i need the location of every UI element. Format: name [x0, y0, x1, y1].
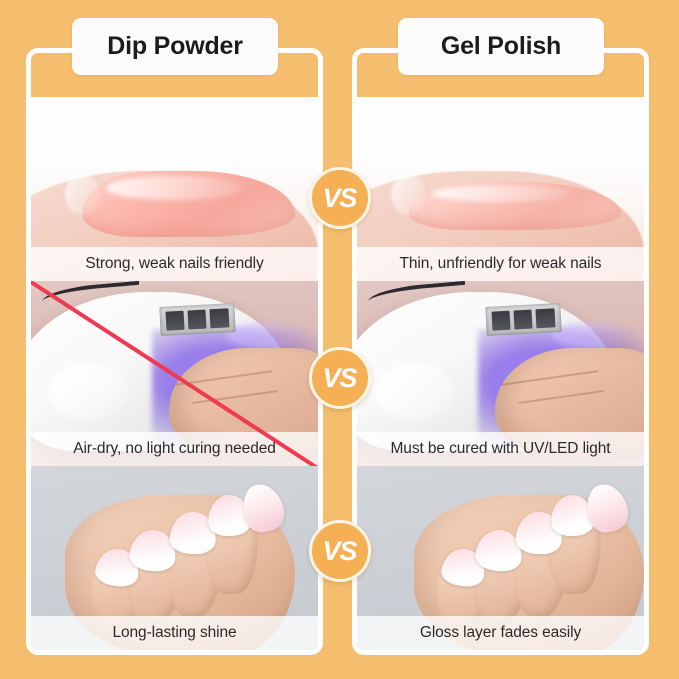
column-title-chip-left: Dip Powder	[72, 18, 278, 75]
caption-bar: Must be cured with UV/LED light	[357, 432, 644, 466]
caption-text: Long-lasting shine	[112, 624, 236, 642]
caption-bar: Thin, unfriendly for weak nails	[357, 247, 644, 281]
caption-bar: Long-lasting shine	[31, 616, 318, 650]
column-title-left: Dip Powder	[107, 32, 243, 61]
panel-inner-right: Thin, unfriendly for weak nails	[357, 97, 644, 650]
panel-inner-left: Strong, weak nails friendly	[31, 97, 318, 650]
lamp-dome-highlight	[48, 364, 128, 419]
column-title-chip-right: Gel Polish	[398, 18, 604, 75]
display-digit	[514, 310, 533, 330]
lamp-digital-display	[159, 303, 235, 336]
caption-text: Thin, unfriendly for weak nails	[400, 255, 602, 273]
lamp-dome-highlight	[374, 364, 454, 419]
vs-divider-column: VS VS VS	[327, 48, 352, 655]
comparison-infographic: Dip Powder Gel Polish Strong, weak nai	[0, 0, 679, 679]
vs-badge-row-3: VS	[309, 520, 371, 582]
caption-text: Strong, weak nails friendly	[85, 255, 263, 273]
caption-text: Must be cured with UV/LED light	[390, 440, 610, 458]
vs-label: VS	[322, 365, 356, 392]
caption-bar: Strong, weak nails friendly	[31, 247, 318, 281]
display-digit	[166, 311, 185, 331]
cell-right-curing-method: Must be cured with UV/LED light	[357, 281, 644, 465]
lamp-rim-light	[552, 322, 638, 348]
vs-label: VS	[322, 538, 356, 565]
caption-bar: Air-dry, no light curing needed	[31, 432, 318, 466]
vs-label: VS	[322, 185, 356, 212]
panel-dip-powder: Strong, weak nails friendly	[26, 48, 323, 655]
cell-left-nail-strength: Strong, weak nails friendly	[31, 97, 318, 281]
lamp-rim-light	[226, 322, 312, 348]
cuticle-highlight	[65, 174, 99, 215]
panel-gel-polish: Thin, unfriendly for weak nails	[352, 48, 649, 655]
display-digit	[210, 309, 229, 329]
cell-left-shine-durability: Long-lasting shine	[31, 466, 318, 650]
caption-text: Air-dry, no light curing needed	[73, 440, 276, 458]
display-digit	[492, 311, 511, 331]
lamp-digital-display	[485, 303, 561, 336]
cell-right-shine-durability: Gloss layer fades easily	[357, 466, 644, 650]
cell-right-nail-strength: Thin, unfriendly for weak nails	[357, 97, 644, 281]
cuticle-highlight	[391, 174, 425, 215]
caption-text: Gloss layer fades easily	[420, 624, 581, 642]
nail-gloss-highlight	[432, 185, 570, 202]
display-digit	[188, 310, 207, 330]
cell-left-curing-method: Air-dry, no light curing needed	[31, 281, 318, 465]
caption-bar: Gloss layer fades easily	[357, 616, 644, 650]
header-row: Dip Powder Gel Polish	[0, 0, 679, 92]
vs-badge-row-1: VS	[309, 167, 371, 229]
column-title-right: Gel Polish	[441, 32, 561, 61]
vs-badge-row-2: VS	[309, 347, 371, 409]
display-digit	[536, 309, 555, 329]
